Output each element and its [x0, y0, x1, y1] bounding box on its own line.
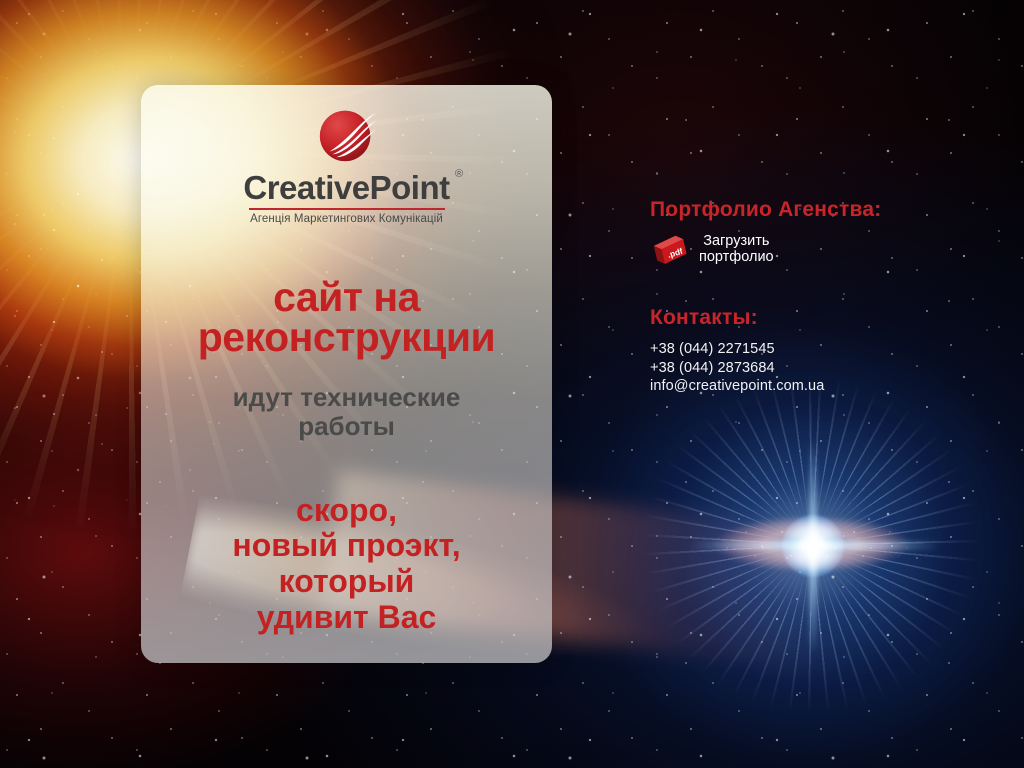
promo-line-2: новый проэкт,: [232, 528, 460, 564]
portfolio-link-line-2: портфолио: [699, 249, 774, 265]
portfolio-link-line-1: Загрузить: [703, 233, 769, 249]
portfolio-heading: Портфолио Агенства:: [650, 198, 950, 222]
feather-swoosh-circle-icon: [316, 103, 378, 165]
promo-line-4: удивит Вас: [232, 600, 460, 636]
announcement-card: CreativePoint® Агенція Маркетингових Ком…: [141, 85, 552, 663]
blue-star-core: [782, 515, 844, 577]
contact-phone-2[interactable]: +38 (044) 2873684: [650, 359, 950, 378]
download-portfolio-link[interactable]: .pdf Загрузить портфолио: [650, 232, 774, 266]
contacts-heading: Контакты:: [650, 306, 950, 330]
logo-tagline: Агенція Маркетингових Комунікацій: [141, 213, 552, 225]
promo-line-3: который: [232, 564, 460, 600]
headline-line-2: реконструкции: [198, 317, 495, 357]
pdf-file-icon: .pdf: [650, 232, 690, 266]
brand-logo[interactable]: CreativePoint® Агенція Маркетингових Ком…: [141, 103, 552, 225]
registered-mark: ®: [455, 169, 463, 180]
promo-line-1: скоро,: [232, 493, 460, 529]
poster-canvas: CreativePoint® Агенція Маркетингових Ком…: [0, 0, 1024, 768]
logo-wordmark: CreativePoint®: [243, 171, 449, 204]
info-column: Портфолио Агенства: .pdf Загрузить портф…: [650, 198, 950, 396]
subtitle-line-1: идут технические: [233, 383, 461, 412]
logo-divider: [249, 208, 445, 210]
contact-email[interactable]: info@creativepoint.com.ua: [650, 377, 950, 396]
promo-message: скоро, новый проэкт, который удивит Вас: [232, 493, 460, 636]
subtitle: идут технические работы: [233, 383, 461, 440]
headline-line-1: сайт на: [198, 277, 495, 317]
portfolio-link-label: Загрузить портфолио: [699, 233, 774, 265]
contacts-block: Контакты: +38 (044) 2271545 +38 (044) 28…: [650, 306, 950, 396]
contact-phone-1[interactable]: +38 (044) 2271545: [650, 340, 950, 359]
page-title: сайт на реконструкции: [198, 277, 495, 357]
subtitle-line-2: работы: [233, 412, 461, 441]
